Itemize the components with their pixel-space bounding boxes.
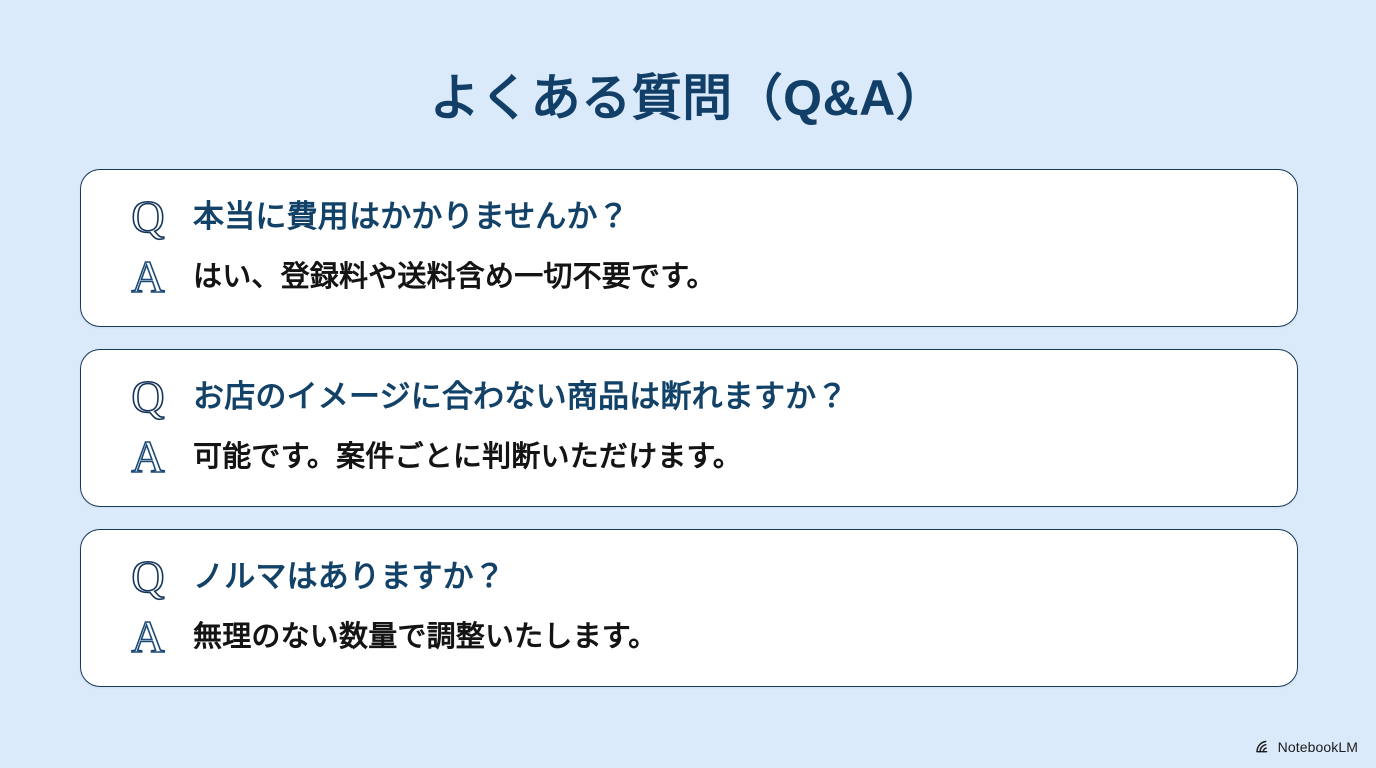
qa-card[interactable]: Q 本当に費用はかかりませんか？ A はい、登録料や送料含め一切不要です。 xyxy=(80,169,1298,327)
qa-question-row: Q お店のイメージに合わない商品は断れますか？ xyxy=(125,372,1267,422)
qa-card[interactable]: Q ノルマはありますか？ A 無理のない数量で調整いたします。 xyxy=(80,529,1298,687)
qa-answer-row: A 可能です。案件ごとに判断いただけます。 xyxy=(125,432,1267,482)
answer-mark-icon: A xyxy=(125,432,171,482)
qa-question-text: 本当に費用はかかりませんか？ xyxy=(193,198,629,237)
answer-mark-icon: A xyxy=(125,252,171,302)
slide-canvas: よくある質問（Q&A） Q 本当に費用はかかりませんか？ A はい、登録料や送料… xyxy=(0,0,1376,768)
page-title: よくある質問（Q&A） xyxy=(0,68,1376,128)
notebooklm-spiral-icon xyxy=(1255,739,1272,754)
qa-answer-row: A はい、登録料や送料含め一切不要です。 xyxy=(125,252,1267,302)
qa-answer-text: 無理のない数量で調整いたします。 xyxy=(193,619,657,655)
qa-question-text: お店のイメージに合わない商品は断れますか？ xyxy=(193,378,848,417)
question-mark-icon: Q xyxy=(125,372,171,422)
qa-answer-text: 可能です。案件ごとに判断いただけます。 xyxy=(193,439,742,475)
question-mark-icon: Q xyxy=(125,552,171,602)
qa-question-text: ノルマはありますか？ xyxy=(193,558,505,597)
qa-question-row: Q ノルマはありますか？ xyxy=(125,552,1267,602)
qa-card[interactable]: Q お店のイメージに合わない商品は断れますか？ A 可能です。案件ごとに判断いた… xyxy=(80,349,1298,507)
question-mark-icon: Q xyxy=(125,192,171,242)
notebooklm-label: NotebookLM xyxy=(1278,740,1358,754)
qa-answer-row: A 無理のない数量で調整いたします。 xyxy=(125,612,1267,662)
notebooklm-branding: NotebookLM xyxy=(1255,739,1358,754)
answer-mark-icon: A xyxy=(125,612,171,662)
qa-question-row: Q 本当に費用はかかりませんか？ xyxy=(125,192,1267,242)
qa-card-list: Q 本当に費用はかかりませんか？ A はい、登録料や送料含め一切不要です。 Q … xyxy=(80,169,1298,687)
qa-answer-text: はい、登録料や送料含め一切不要です。 xyxy=(193,259,716,295)
